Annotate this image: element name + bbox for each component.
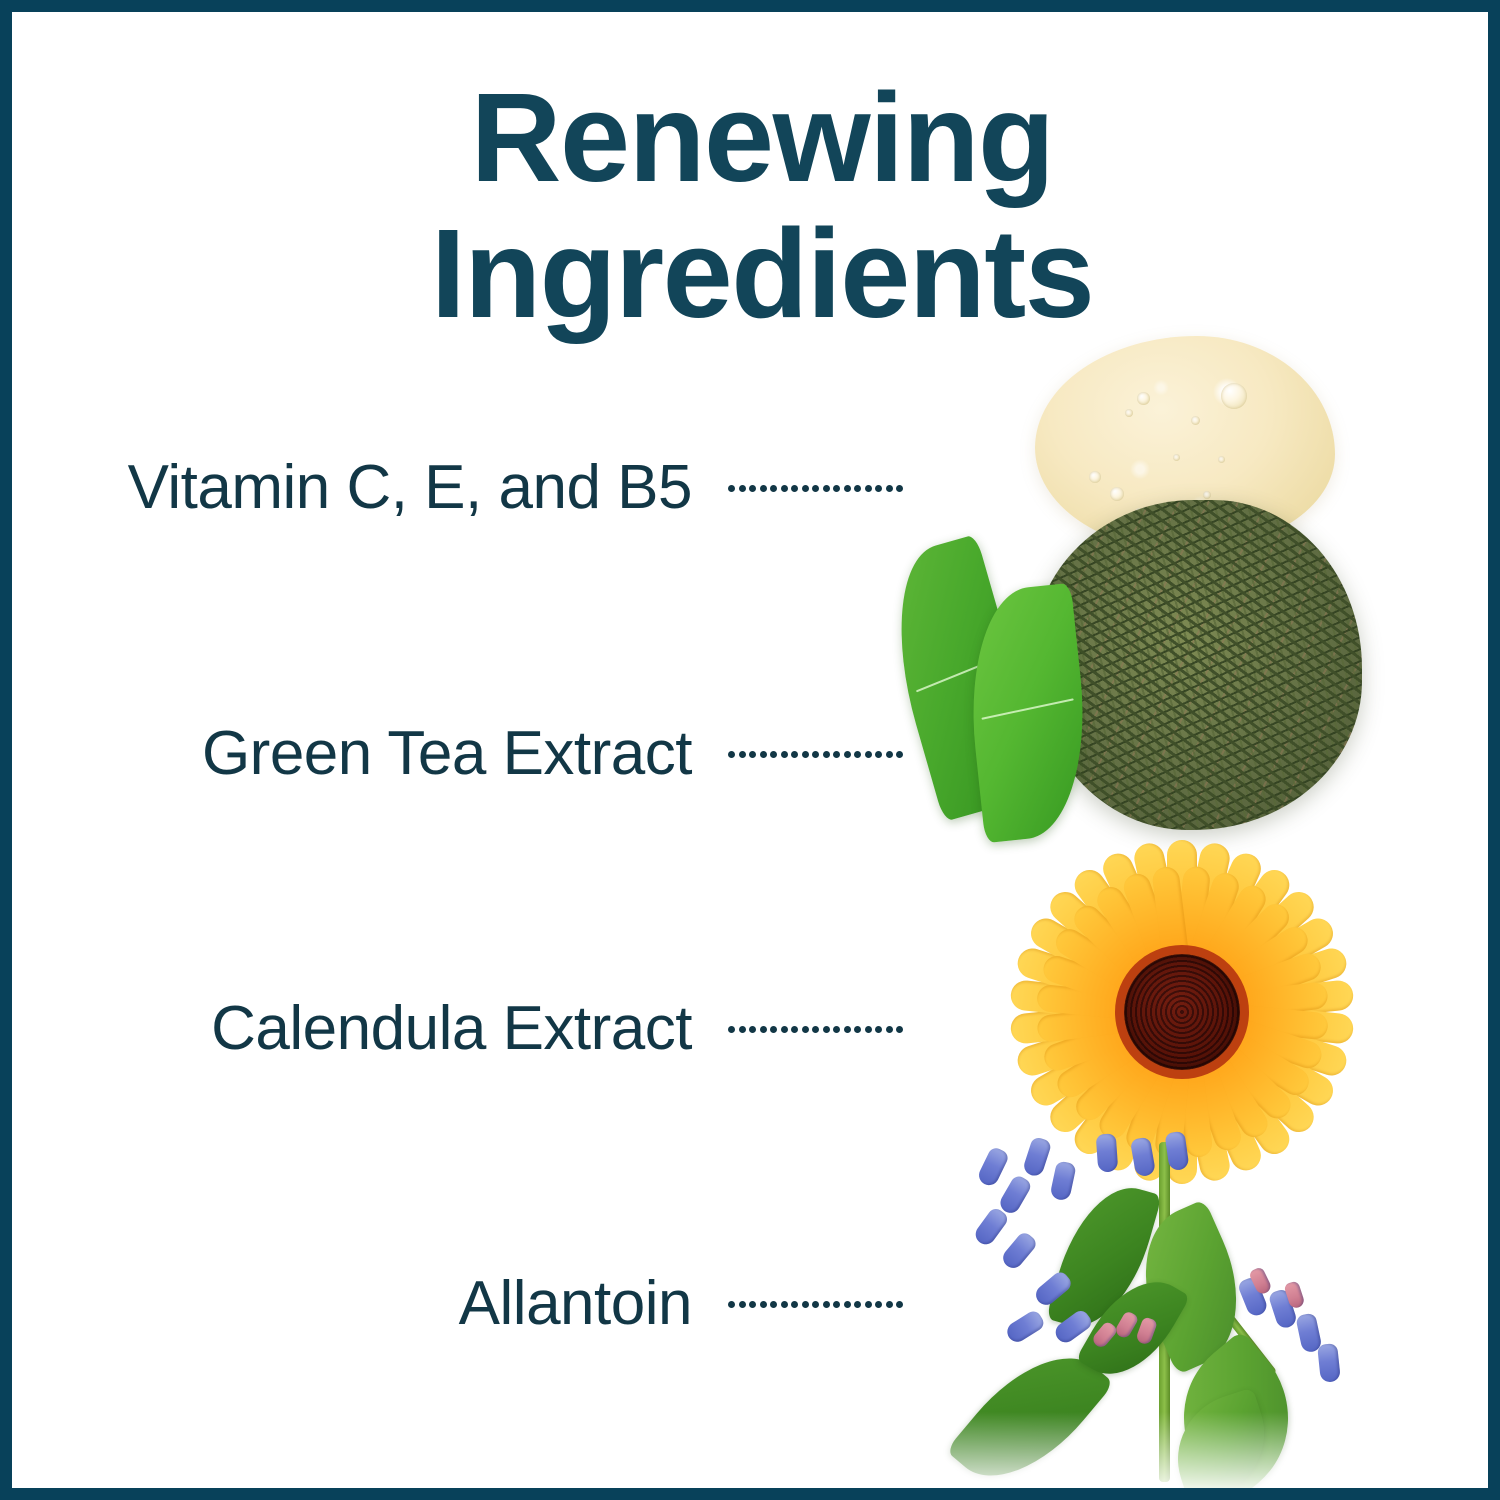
- serum-bubble: [1137, 392, 1150, 405]
- ingredient-infographic: Renewing Ingredients: [0, 0, 1500, 1500]
- collage-right-fade: [1427, 332, 1500, 1500]
- comfrey-flower: [997, 1174, 1033, 1217]
- ingredient-collage: [867, 332, 1500, 1500]
- serum-bubble: [1203, 491, 1211, 499]
- ingredient-row: Calendula Extract: [12, 990, 912, 1068]
- ingredient-row: Vitamin C, E, and B5: [12, 449, 912, 527]
- serum-bubble: [1173, 454, 1180, 461]
- ingredient-label: Allantoin: [12, 1273, 692, 1335]
- ingredient-row: Allantoin: [12, 1265, 912, 1343]
- comfrey-flower: [999, 1230, 1039, 1272]
- serum-bubble: [1191, 416, 1200, 425]
- green-tea-photo: [1032, 500, 1362, 830]
- comfrey-flower: [972, 1206, 1011, 1248]
- comfrey-flower: [976, 1146, 1011, 1189]
- dotted-leader-line: [728, 1025, 903, 1034]
- serum-bubble: [1218, 456, 1225, 463]
- comfrey-flower: [1004, 1308, 1047, 1345]
- comfrey-flower: [1130, 1137, 1156, 1178]
- ingredient-label: Calendula Extract: [12, 998, 692, 1060]
- serum-bubble: [1125, 409, 1133, 417]
- serum-bubble: [1221, 383, 1247, 409]
- comfrey-flower: [1317, 1343, 1341, 1383]
- dotted-leader-line: [728, 1300, 903, 1309]
- ingredient-label: Vitamin C, E, and B5: [12, 457, 692, 519]
- comfrey-flower: [1022, 1136, 1053, 1178]
- dotted-leader-line: [728, 484, 903, 493]
- dotted-leader-line: [728, 750, 903, 759]
- ingredient-row: Green Tea Extract: [12, 715, 912, 793]
- ingredient-list: Vitamin C, E, and B5 Green Tea Extract C…: [12, 12, 912, 1500]
- serum-bubble: [1089, 471, 1101, 483]
- calendula-center: [1124, 954, 1240, 1070]
- ingredient-label: Green Tea Extract: [12, 723, 692, 785]
- serum-bubble: [1110, 487, 1124, 501]
- comfrey-plant-photo: [947, 1132, 1417, 1500]
- comfrey-flower: [1049, 1160, 1076, 1201]
- comfrey-flower: [1096, 1133, 1119, 1172]
